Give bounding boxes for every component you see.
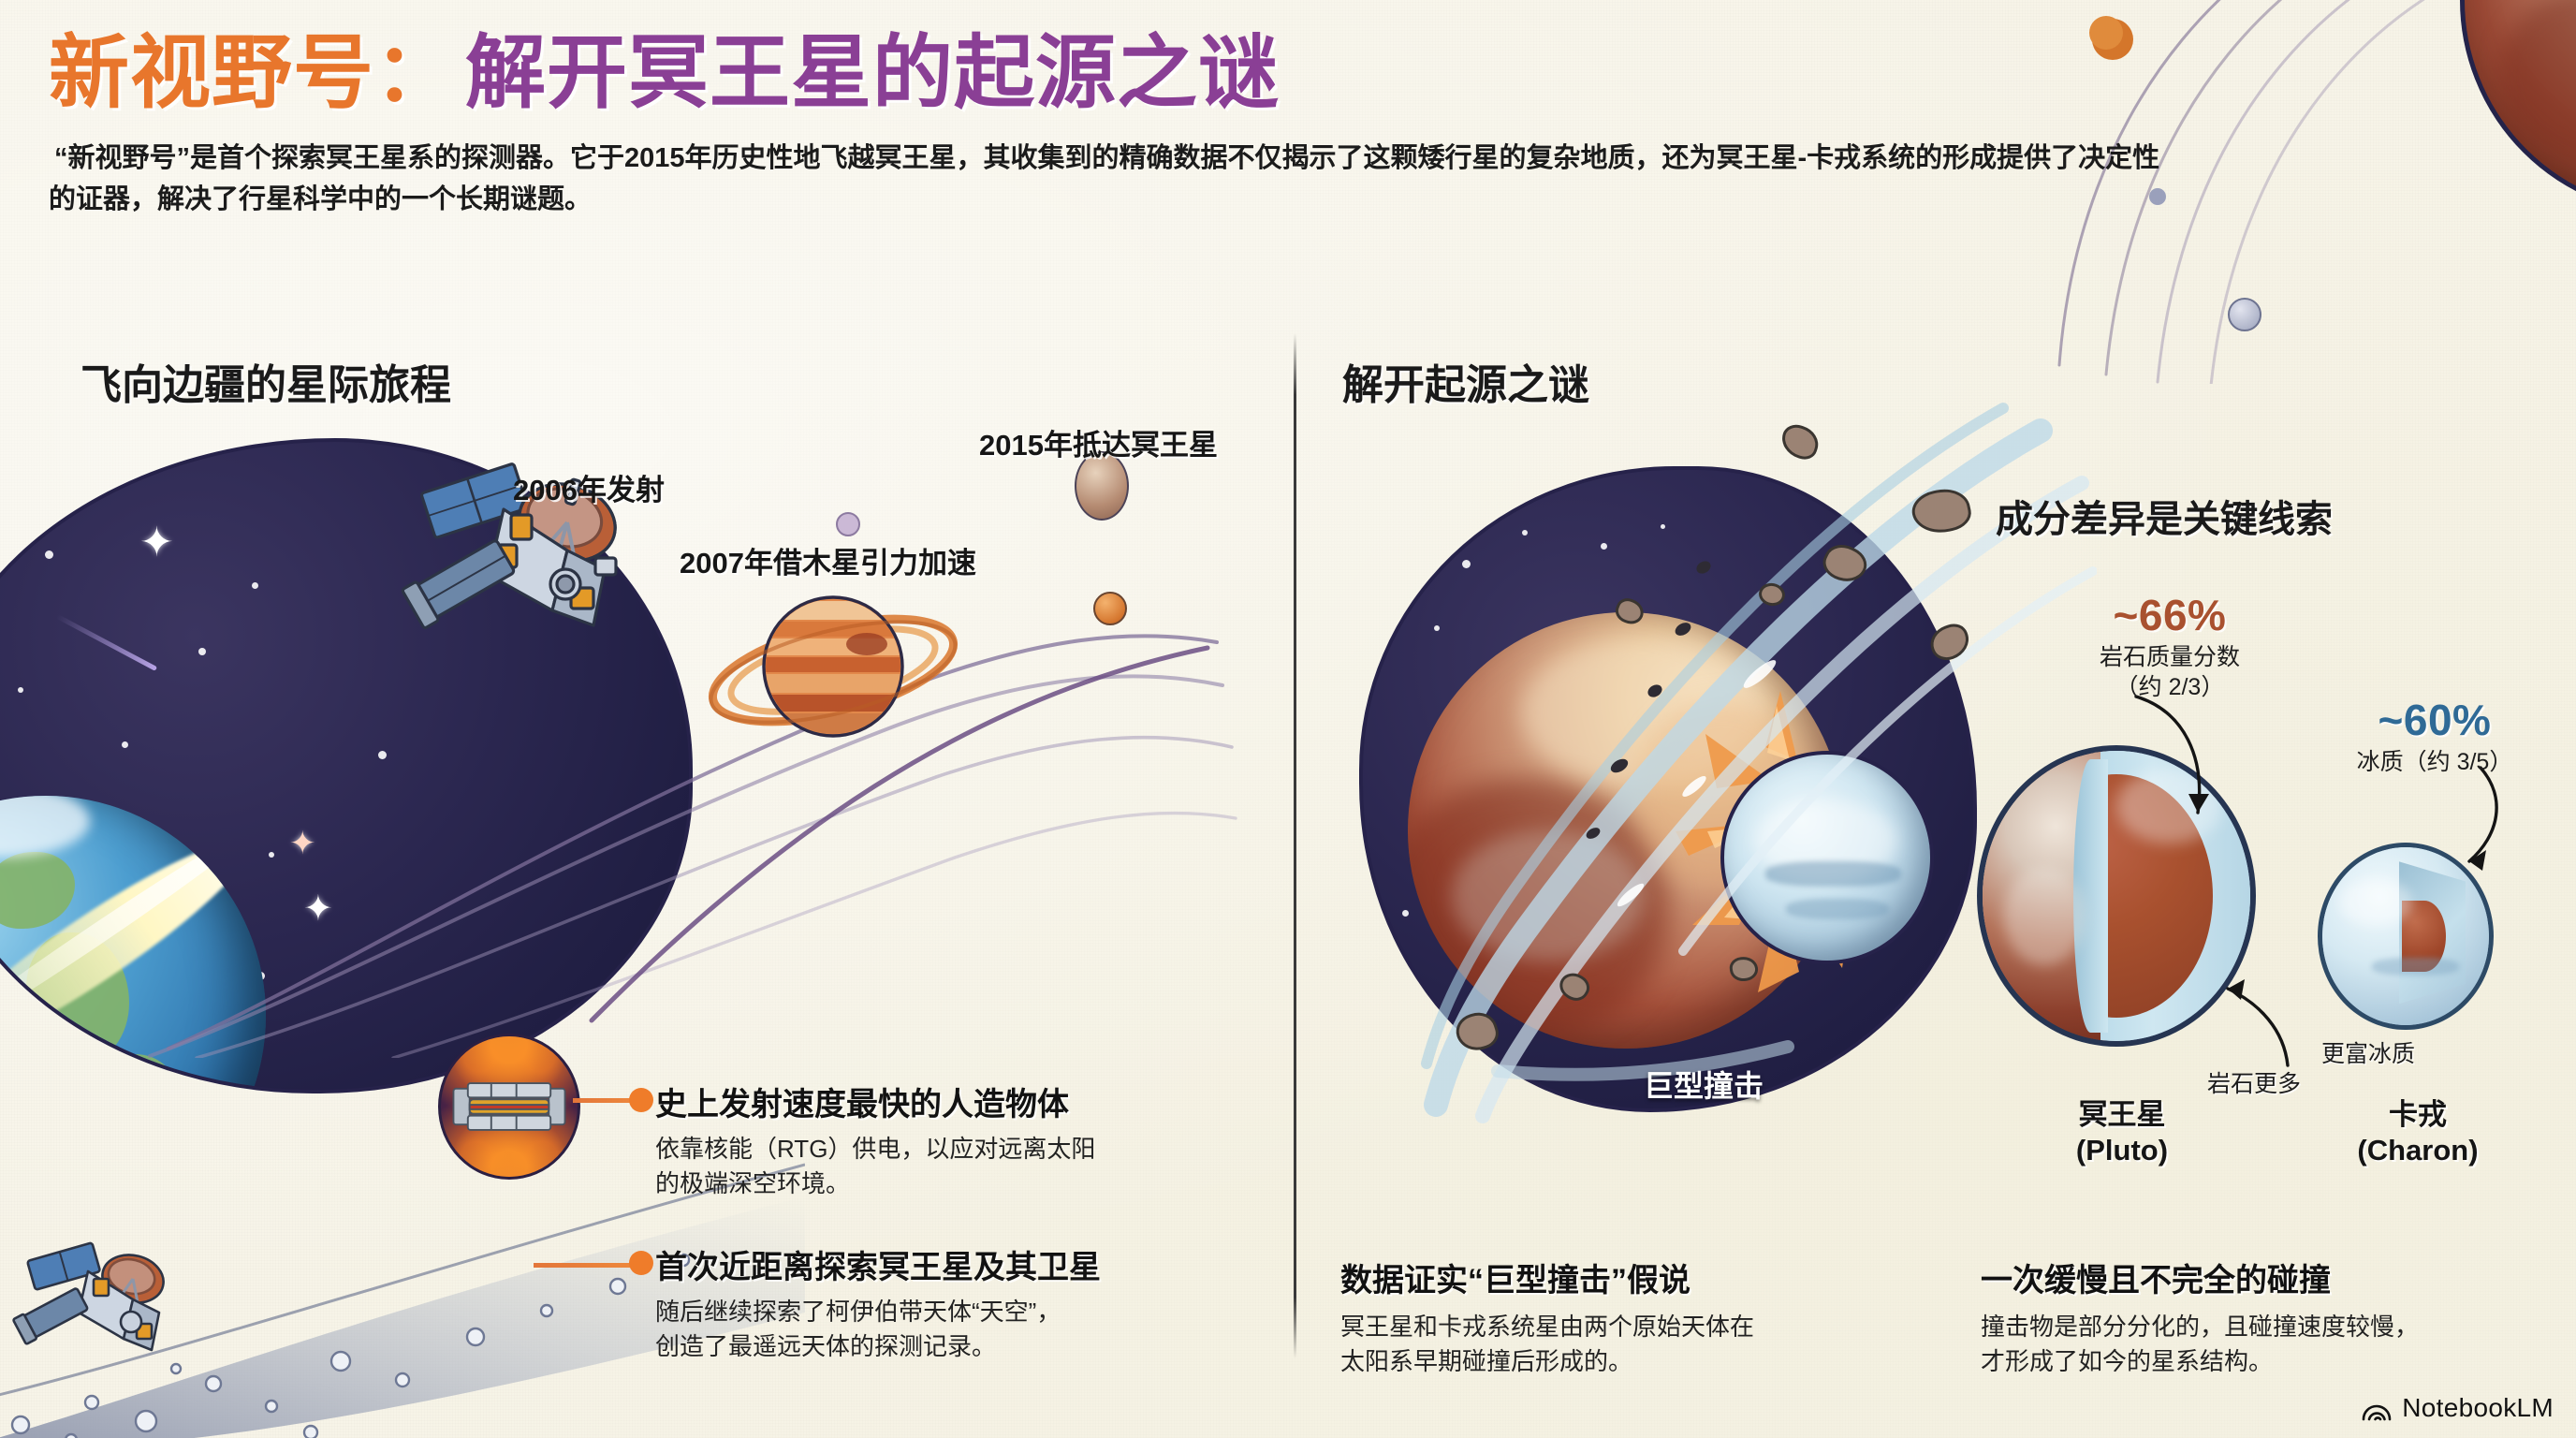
callout-bullet-dot [629,1088,653,1112]
callout-bullet-dot [629,1251,653,1275]
right-bottom-block-2: 一次缓慢且不完全的碰撞 撞击物是部分分化的，且碰撞速度较慢， 才形成了如今的星系… [1981,1255,2419,1379]
header: 新视野号：解开冥王星的起源之谜 “新视野号”是首个探索冥王星系的探测器。它于20… [49,28,2183,220]
callout-body: 随后继续探索了柯伊伯带天体“天空”， 创造了最遥远天体的探测记录。 [655,1295,1101,1364]
notebooklm-arc-icon [2361,1394,2393,1422]
page-title-predicate: 解开冥王星的起源之谜 [465,28,1280,118]
left-callout-1: 史上发射速度最快的人造物体 依靠核能（RTG）供电，以应对远离太阳 的极端深空环… [655,1078,1095,1201]
body-label-charon: 卡戎 (Charon) [2310,1097,2525,1168]
annotation-more-rock: 岩石更多 [2207,1065,2301,1099]
left-panel-title: 飞向边疆的星际旅程 [80,351,451,411]
right-bottom-block-1: 数据证实“巨型撞击”假说 冥王星和卡戎系统星由两个原始天体在 太阳系早期碰撞后形… [1340,1255,1754,1379]
stat-label: 冰质（约 3/5） [2308,747,2561,777]
rtg-generator-icon [438,1034,580,1180]
page-title-colon: ： [374,28,456,118]
impact-caption-label: 巨型撞击 [1644,1063,1764,1106]
footer-logo: NotebookLM [2361,1393,2554,1423]
block-heading: 一次缓慢且不完全的碰撞 [1981,1255,2419,1300]
journey-label-jupiter: 2007年借木星引力加速 [680,539,976,581]
callout-body: 依靠核能（RTG）供电，以应对远离太阳 的极端深空环境。 [655,1132,1095,1201]
callout-heading: 首次近距离探索冥王星及其卫星 [655,1241,1101,1287]
block-body: 冥王星和卡戎系统星由两个原始天体在 太阳系早期碰撞后形成的。 [1340,1310,1754,1379]
journey-label-arrival: 2015年抵达冥王星 [979,421,1218,463]
annotation-more-ice: 更富冰质 [2321,1035,2415,1069]
composition-section-title: 成分差异是关键线索 [1996,489,2333,543]
block-body: 撞击物是部分分化的，且碰撞速度较慢， 才形成了如今的星系结构。 [1981,1310,2419,1379]
ringed-planet-illustration [693,558,973,773]
stat-ice-fraction: ~60% 冰质（约 3/5） [2308,695,2561,777]
page-title-subject: 新视野号 [49,28,374,118]
journey-label-launch: 2006年发射 [513,466,665,508]
stat-rock-fraction: ~66% 岩石质量分数 （约 2/3） [2029,590,2310,702]
block-heading: 数据证实“巨型撞击”假说 [1340,1255,1754,1300]
stat-value: ~66% [2029,590,2310,640]
page-title: 新视野号：解开冥王星的起源之谜 [49,28,2183,118]
left-callout-2: 首次近距离探索冥王星及其卫星 随后继续探索了柯伊伯带天体“天空”， 创造了最遥远… [655,1241,1101,1364]
stat-value: ~60% [2308,695,2561,745]
page-subtitle: “新视野号”是首个探索冥王星系的探测器。它于2015年历史性地飞越冥王星，其收集… [49,139,2183,220]
spacecraft-kuiper-icon [9,1234,183,1374]
footer-logo-text: NotebookLM [2402,1393,2554,1423]
body-label-pluto: 冥王星 (Pluto) [2014,1097,2230,1168]
callout-heading: 史上发射速度最快的人造物体 [655,1078,1095,1124]
stat-label: 岩石质量分数 （约 2/3） [2029,642,2310,702]
panel-divider [1294,333,1296,1358]
small-orange-planet-icon [1093,592,1127,625]
right-panel-title: 解开起源之谜 [1342,351,1589,411]
